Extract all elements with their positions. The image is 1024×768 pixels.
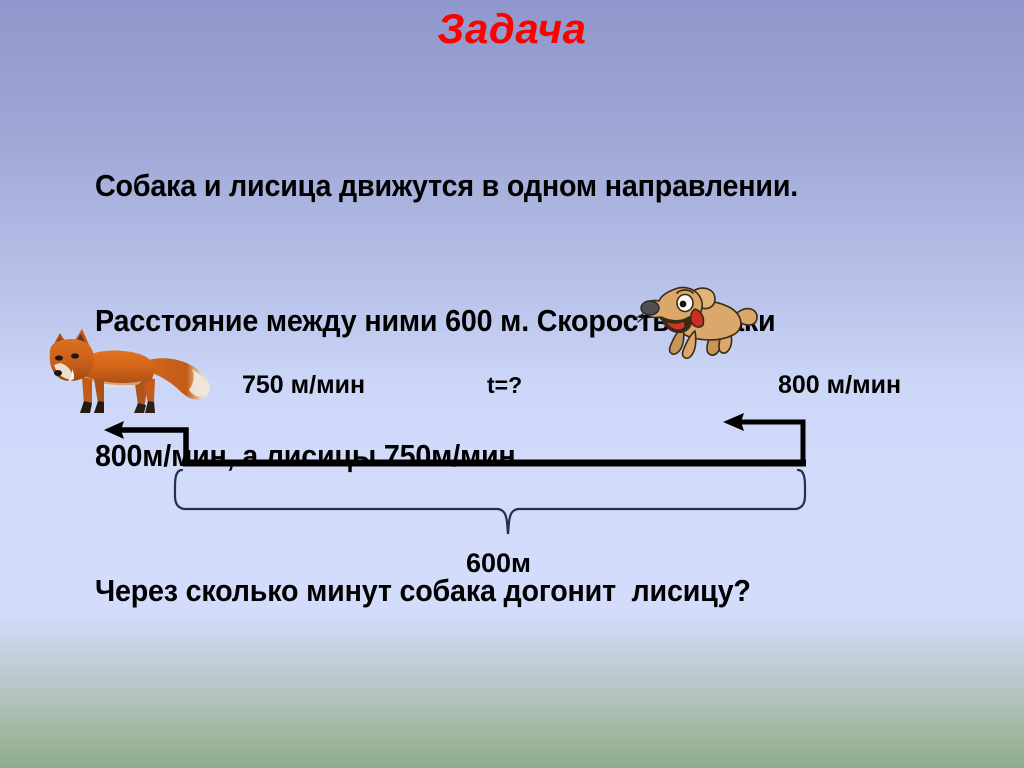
distance-label: 600м: [466, 548, 531, 579]
fox-speed-label: 750 м/мин: [242, 371, 365, 400]
time-unknown-label: t=?: [487, 372, 522, 399]
dog-motion-arrow: [723, 413, 803, 461]
left-arrow-icon: [104, 421, 124, 439]
slide-canvas: Задача Собака и лисица движутся в одном …: [0, 0, 1024, 768]
distance-brace-icon: [175, 470, 805, 534]
dog-speed-label: 800 м/мин: [778, 371, 901, 400]
right-arrow-icon: [723, 413, 744, 431]
fox-motion-arrow: [104, 421, 186, 462]
